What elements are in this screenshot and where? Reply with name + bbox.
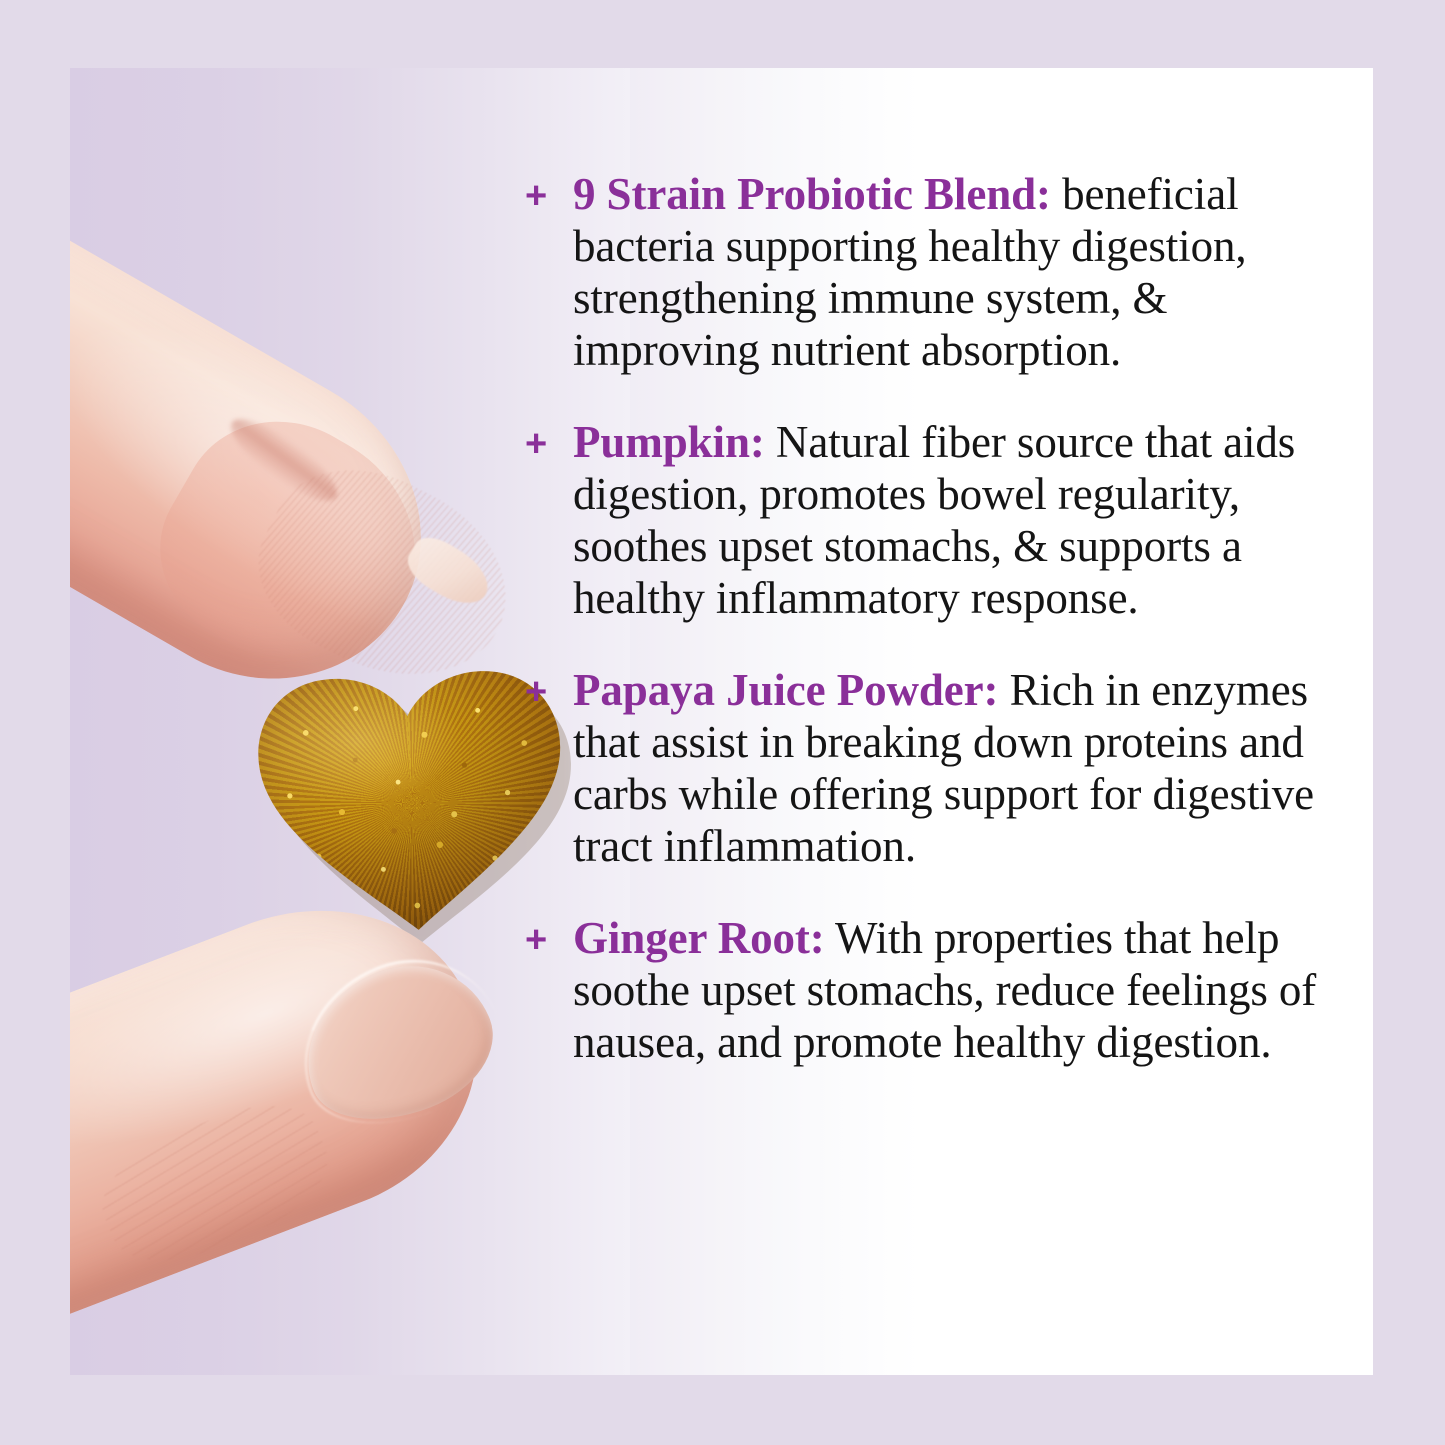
list-item: + 9 Strain Probiotic Blend: beneficial b… (525, 168, 1345, 376)
list-item-text: Pumpkin: Natural fiber source that aids … (573, 416, 1345, 624)
ingredient-benefits-list: + 9 Strain Probiotic Blend: beneficial b… (525, 168, 1345, 1068)
plus-icon: + (525, 416, 573, 470)
ingredient-name: Ginger Root: (573, 913, 825, 963)
plus-icon: + (525, 912, 573, 966)
list-item-text: Papaya Juice Powder: Rich in enzymes tha… (573, 664, 1345, 872)
plus-icon: + (525, 664, 573, 718)
list-item-text: Ginger Root: With properties that help s… (573, 912, 1345, 1068)
ingredient-name: Papaya Juice Powder: (573, 665, 998, 715)
list-item: + Papaya Juice Powder: Rich in enzymes t… (525, 664, 1345, 872)
ingredient-name: 9 Strain Probiotic Blend: (573, 169, 1051, 219)
list-item: + Pumpkin: Natural fiber source that aid… (525, 416, 1345, 624)
ingredient-name: Pumpkin: (573, 417, 765, 467)
content-panel: + 9 Strain Probiotic Blend: beneficial b… (70, 68, 1373, 1375)
list-item-text: 9 Strain Probiotic Blend: beneficial bac… (573, 168, 1345, 376)
product-infographic: + 9 Strain Probiotic Blend: beneficial b… (0, 0, 1445, 1445)
plus-icon: + (525, 168, 573, 222)
list-item: + Ginger Root: With properties that help… (525, 912, 1345, 1068)
